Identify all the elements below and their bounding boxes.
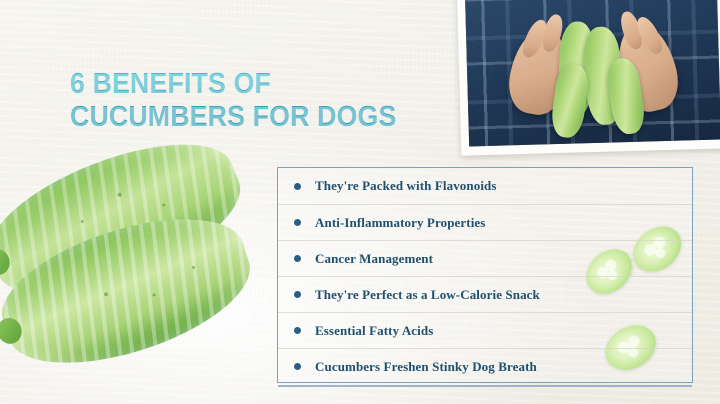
bullet-icon <box>294 327 301 334</box>
bullet-icon <box>294 255 301 262</box>
infographic-canvas: 6 Benefits of Cucumbers for Dogs <box>0 0 720 404</box>
cucumber-speck <box>192 266 196 270</box>
benefits-panel: They're Packed with Flavonoids Anti-Infl… <box>277 167 693 383</box>
page-title-line-1: 6 Benefits of <box>70 68 438 101</box>
watercolor-whole-cucumbers-illustration <box>0 148 268 404</box>
bullet-icon <box>294 183 301 190</box>
cucumber-speck <box>104 292 109 297</box>
person-holding-cucumbers-photo <box>465 0 720 146</box>
cucumber-speck <box>117 192 122 197</box>
list-item[interactable]: Essential Fatty Acids <box>278 312 692 348</box>
benefits-list: They're Packed with Flavonoids Anti-Infl… <box>278 168 692 382</box>
panel-baseline-rule <box>278 385 692 387</box>
list-item[interactable]: They're Packed with Flavonoids <box>278 168 692 204</box>
photo-frame <box>457 0 720 156</box>
bullet-icon <box>294 363 301 370</box>
cucumber-tip <box>0 315 25 347</box>
list-item[interactable]: Anti-Inflammatory Properties <box>278 204 692 240</box>
list-item-label: Cancer Management <box>315 251 433 267</box>
list-item-label: Essential Fatty Acids <box>315 323 433 339</box>
page-title-line-2: Cucumbers for Dogs <box>70 101 438 134</box>
cucumber-speck <box>152 293 156 297</box>
list-item[interactable]: Cucumbers Freshen Stinky Dog Breath <box>278 348 692 384</box>
bullet-icon <box>294 291 301 298</box>
list-item[interactable]: Cancer Management <box>278 240 692 276</box>
list-item-label: They're Packed with Flavonoids <box>315 178 497 194</box>
cucumber-speck <box>80 219 84 223</box>
cucumber-tip <box>0 245 13 278</box>
bullet-icon <box>294 219 301 226</box>
cucumber-speck <box>162 203 166 207</box>
list-item-label: Cucumbers Freshen Stinky Dog Breath <box>315 359 537 375</box>
page-title: 6 Benefits of Cucumbers for Dogs <box>70 68 438 134</box>
list-item-label: They're Perfect as a Low-Calorie Snack <box>315 287 540 303</box>
list-item[interactable]: They're Perfect as a Low-Calorie Snack <box>278 276 692 312</box>
list-item-label: Anti-Inflammatory Properties <box>315 215 485 231</box>
